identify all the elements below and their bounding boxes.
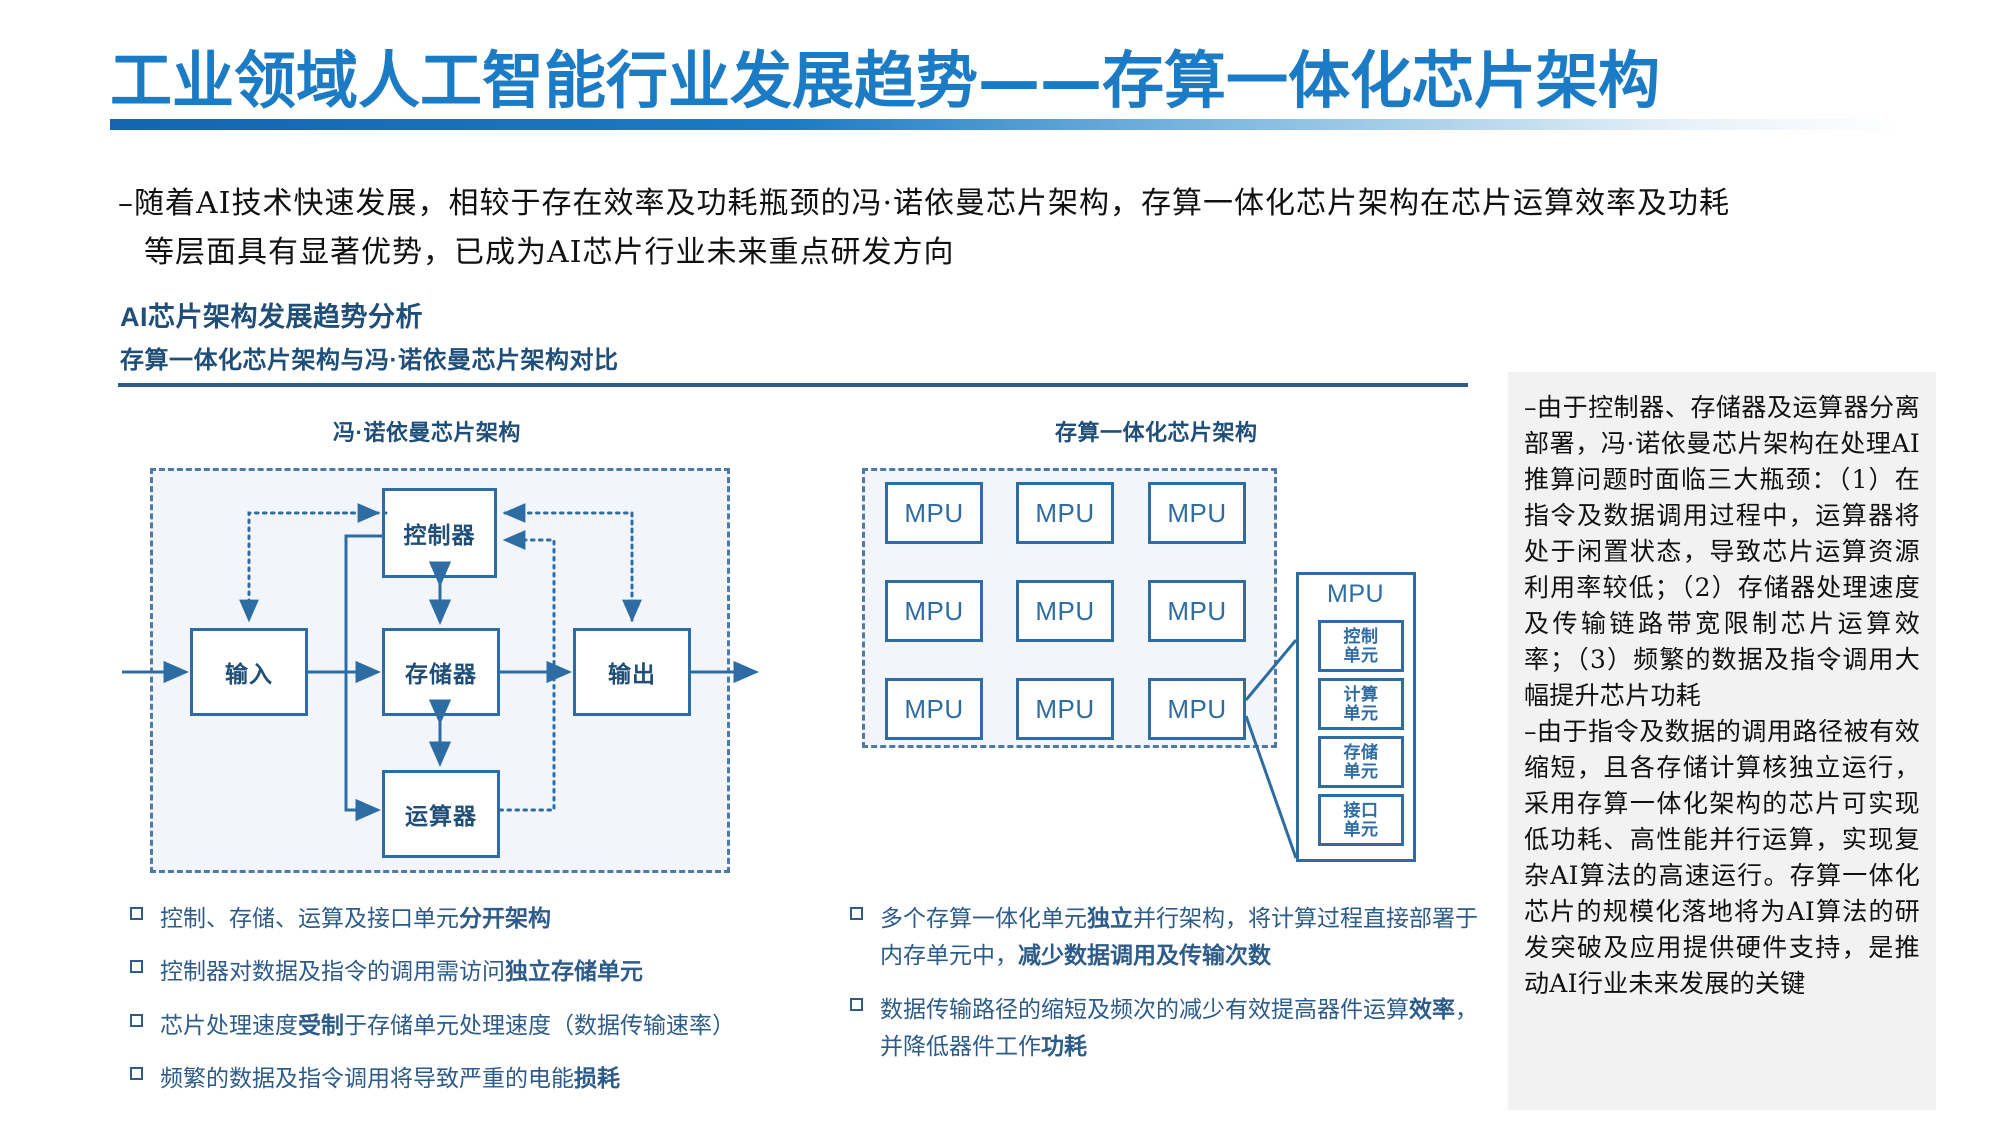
- lead-line-1: –随着AI技术快速发展，相较于存在效率及功耗瓶颈的冯·诺依曼芯片架构，存算一体化…: [118, 186, 1730, 221]
- title-underline: [110, 119, 1900, 130]
- node-alu: 运算器: [382, 770, 500, 858]
- bullet-text-bold-2: 减少数据调用及传输次数: [1018, 942, 1271, 968]
- mpu-cell-7: MPU: [885, 678, 983, 740]
- mpu-cell-8-label: MPU: [1035, 694, 1094, 725]
- bullet-square-icon: [850, 998, 863, 1011]
- mpu-cell-3: MPU: [1148, 482, 1246, 544]
- mpu-cell-1: MPU: [885, 482, 983, 544]
- mpu-subunit-storage-line2: 单元: [1344, 762, 1379, 781]
- left-diagram-caption: 冯·诺依曼芯片架构: [333, 415, 521, 447]
- list-item: 频繁的数据及指令调用将导致严重的电能损耗: [128, 1060, 828, 1097]
- mpu-subunit-interface: 接口 单元: [1318, 794, 1404, 846]
- mpu-cell-3-label: MPU: [1167, 498, 1226, 529]
- bullet-text-bold: 独立存储单元: [505, 958, 643, 984]
- mpu-cell-1-label: MPU: [904, 498, 963, 529]
- bullet-text-post: 于存储单元处理速度（数据传输速率）: [344, 1012, 735, 1038]
- bullet-square-icon: [130, 907, 143, 920]
- mpu-cell-5-label: MPU: [1035, 596, 1094, 627]
- list-item: 多个存算一体化单元独立并行架构，将计算过程直接部署于内存单元中，减少数据调用及传…: [848, 900, 1488, 975]
- bullet-text-bold-2: 功耗: [1041, 1033, 1087, 1059]
- node-memory-label: 存储器: [405, 655, 477, 689]
- node-controller-label: 控制器: [404, 516, 476, 550]
- mpu-subunit-compute-line1: 计算: [1344, 685, 1379, 704]
- bullet-text-bold: 受制: [298, 1012, 344, 1038]
- section-heading: AI芯片架构发展趋势分析: [120, 295, 423, 334]
- mpu-cell-4-label: MPU: [904, 596, 963, 627]
- mpu-subunit-compute: 计算 单元: [1318, 678, 1404, 730]
- list-item: 芯片处理速度受制于存储单元处理速度（数据传输速率）: [128, 1007, 828, 1044]
- mpu-subunit-compute-line2: 单元: [1344, 704, 1379, 723]
- side-panel-paragraph-2: –由于指令及数据的调用路径被有效缩短，且各存储计算核独立运行，采用存算一体化架构…: [1524, 714, 1920, 1002]
- lead-paragraph: –随着AI技术快速发展，相较于存在效率及功耗瓶颈的冯·诺依曼芯片架构，存算一体化…: [118, 180, 1918, 277]
- mpu-cell-4: MPU: [885, 580, 983, 642]
- title-block: 工业领域人工智能行业发展趋势——存算一体化芯片架构: [110, 48, 1900, 130]
- lead-line-2: 等层面具有显著优势，已成为AI芯片行业未来重点研发方向: [118, 229, 1918, 278]
- side-commentary-panel: –由于控制器、存储器及运算器分离部署，冯·诺依曼芯片架构在处理AI推算问题时面临…: [1508, 372, 1936, 1110]
- bullet-text-bold: 损耗: [574, 1065, 620, 1091]
- page-title: 工业领域人工智能行业发展趋势——存算一体化芯片架构: [110, 48, 1900, 113]
- list-item: 控制器对数据及指令的调用需访问独立存储单元: [128, 953, 828, 990]
- node-memory: 存储器: [382, 628, 500, 716]
- section-divider: [118, 383, 1468, 387]
- node-input: 输入: [190, 628, 308, 716]
- bullet-square-icon: [130, 960, 143, 973]
- mpu-cell-2: MPU: [1016, 482, 1114, 544]
- bullet-text-pre: 多个存算一体化单元: [880, 905, 1087, 931]
- bullet-square-icon: [130, 1067, 143, 1080]
- mpu-subunit-control-line2: 单元: [1344, 646, 1379, 665]
- side-panel-paragraph-1: –由于控制器、存储器及运算器分离部署，冯·诺依曼芯片架构在处理AI推算问题时面临…: [1524, 390, 1920, 714]
- mpu-cell-6-label: MPU: [1167, 596, 1226, 627]
- node-controller: 控制器: [382, 488, 497, 578]
- mpu-subunit-interface-line1: 接口: [1344, 801, 1379, 820]
- bullet-text-pre: 芯片处理速度: [160, 1012, 298, 1038]
- node-output-label: 输出: [608, 655, 656, 689]
- right-bullet-list: 多个存算一体化单元独立并行架构，将计算过程直接部署于内存单元中，减少数据调用及传…: [848, 900, 1488, 1081]
- mpu-cell-7-label: MPU: [904, 694, 963, 725]
- mpu-subunit-control-line1: 控制: [1344, 627, 1379, 646]
- node-input-label: 输入: [225, 655, 273, 689]
- left-bullet-list: 控制、存储、运算及接口单元分开架构 控制器对数据及指令的调用需访问独立存储单元 …: [128, 900, 828, 1113]
- mpu-cell-8: MPU: [1016, 678, 1114, 740]
- mpu-detail-title: MPU: [1327, 580, 1384, 609]
- bullet-text-pre: 控制器对数据及指令的调用需访问: [160, 958, 505, 984]
- mpu-cell-6: MPU: [1148, 580, 1246, 642]
- node-alu-label: 运算器: [405, 797, 477, 831]
- node-output: 输出: [573, 628, 691, 716]
- bullet-text-bold: 分开架构: [459, 905, 551, 931]
- mpu-cell-9: MPU: [1148, 678, 1246, 740]
- mpu-subunit-storage: 存储 单元: [1318, 736, 1404, 788]
- mpu-cell-5: MPU: [1016, 580, 1114, 642]
- bullet-square-icon: [850, 907, 863, 920]
- slide-root: 工业领域人工智能行业发展趋势——存算一体化芯片架构 –随着AI技术快速发展，相较…: [0, 0, 2000, 1125]
- list-item: 控制、存储、运算及接口单元分开架构: [128, 900, 828, 937]
- mpu-subunit-storage-line1: 存储: [1344, 743, 1379, 762]
- list-item: 数据传输路径的缩短及频次的减少有效提高器件运算效率，并降低器件工作功耗: [848, 991, 1488, 1066]
- right-diagram-caption: 存算一体化芯片架构: [1055, 415, 1258, 447]
- bullet-text-pre: 控制、存储、运算及接口单元: [160, 905, 459, 931]
- mpu-subunit-interface-line2: 单元: [1344, 820, 1379, 839]
- mpu-subunit-control: 控制 单元: [1318, 620, 1404, 672]
- bullet-text-pre: 频繁的数据及指令调用将导致严重的电能: [160, 1065, 574, 1091]
- section-subheading: 存算一体化芯片架构与冯·诺依曼芯片架构对比: [120, 340, 619, 375]
- bullet-square-icon: [130, 1014, 143, 1027]
- mpu-cell-9-label: MPU: [1167, 694, 1226, 725]
- bullet-text-pre: 数据传输路径的缩短及频次的减少有效提高器件运算: [880, 996, 1409, 1022]
- bullet-text-bold: 独立: [1087, 905, 1133, 931]
- mpu-cell-2-label: MPU: [1035, 498, 1094, 529]
- bullet-text-bold: 效率: [1409, 996, 1455, 1022]
